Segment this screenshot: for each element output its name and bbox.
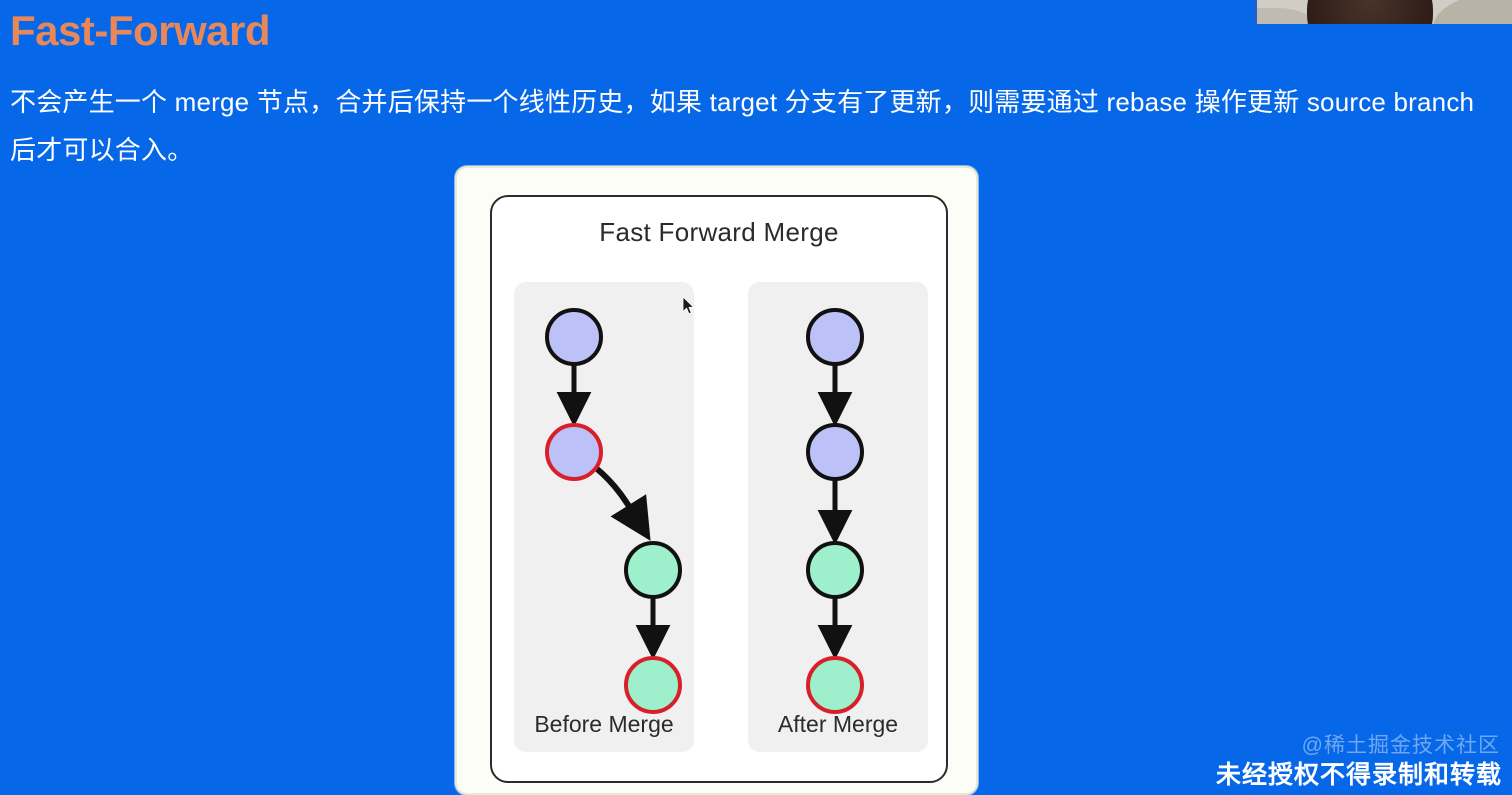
diagram-card: Fast Forward Merge: [455, 166, 978, 795]
webcam-video-overlay[interactable]: [1255, 0, 1512, 24]
before-merge-graph: [514, 282, 694, 752]
slide-body-text: 不会产生一个 merge 节点，合并后保持一个线性历史，如果 target 分支…: [10, 78, 1475, 174]
webcam-head: [1307, 0, 1433, 24]
panel-caption-before: Before Merge: [514, 711, 694, 738]
edge-n2-n3: [596, 468, 645, 532]
slide-canvas: Fast-Forward 不会产生一个 merge 节点，合并后保持一个线性历史…: [0, 0, 1512, 795]
graph-panel-after-merge: After Merge: [748, 282, 928, 752]
watermark-notice: 未经授权不得录制和转载: [1216, 755, 1502, 791]
after-merge-graph: [748, 282, 928, 752]
commit-node-green-head: [808, 658, 862, 712]
commit-node-green: [808, 543, 862, 597]
graph-panel-before-merge: Before Merge: [514, 282, 694, 752]
diagram-frame: Fast Forward Merge: [490, 195, 948, 783]
webcam-shoulder-right: [1433, 0, 1512, 24]
commit-node-blue: [808, 310, 862, 364]
commit-node-blue: [547, 310, 601, 364]
page-title: Fast-Forward: [10, 6, 270, 56]
commit-node-green: [626, 543, 680, 597]
diagram-title: Fast Forward Merge: [492, 217, 946, 248]
commit-node-green-head: [626, 658, 680, 712]
commit-node-blue-2: [808, 425, 862, 479]
commit-node-blue-head: [547, 425, 601, 479]
panel-caption-after: After Merge: [748, 711, 928, 738]
